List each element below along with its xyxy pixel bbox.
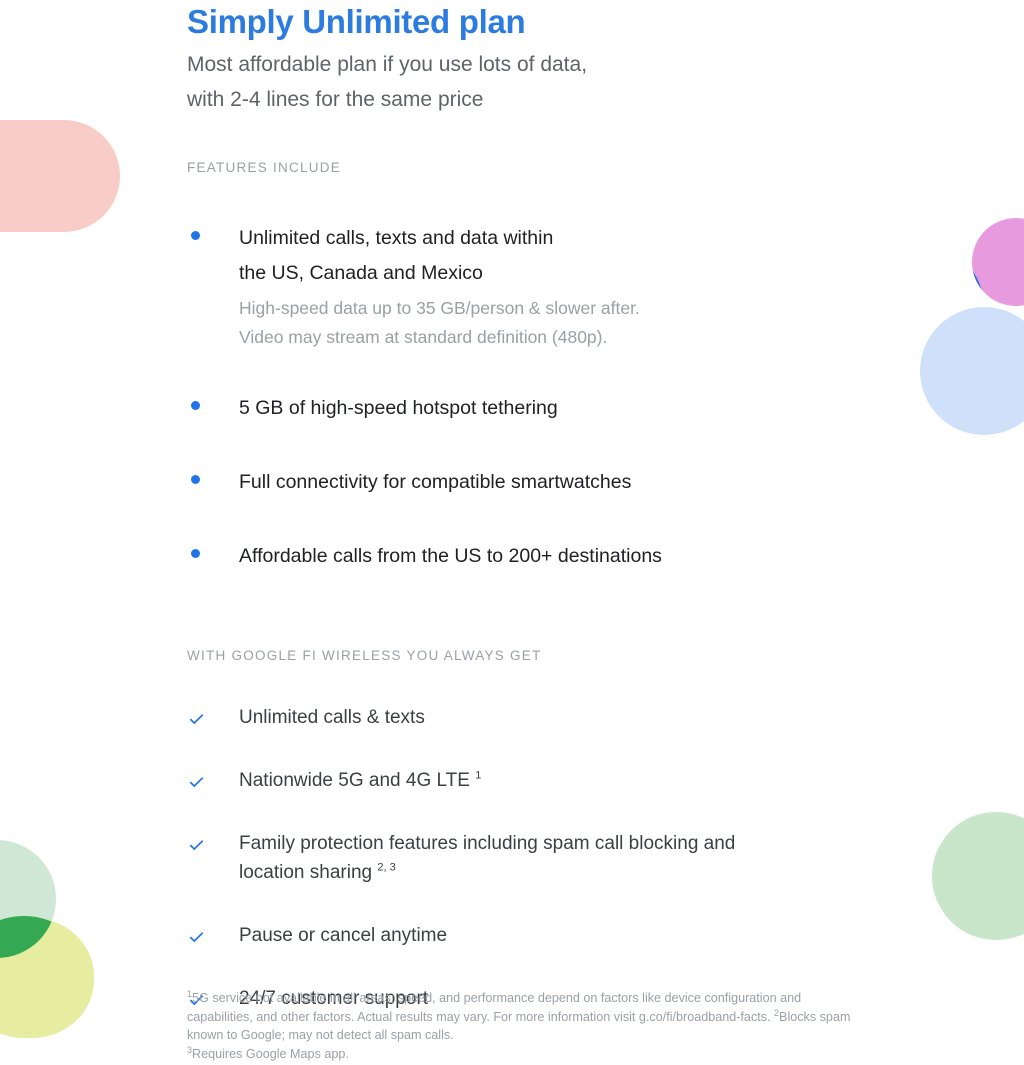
list-item: Affordable calls from the US to 200+ des…	[187, 539, 984, 574]
footnote-text-3: Requires Google Maps app.	[192, 1047, 349, 1061]
feature-heading: 5 GB of high-speed hotspot tethering	[239, 391, 839, 426]
bullet-dot-icon	[191, 401, 200, 410]
plan-subtitle: Most affordable plan if you use lots of …	[187, 47, 747, 117]
list-item: Full connectivity for compatible smartwa…	[187, 465, 984, 500]
list-item: Family protection features including spa…	[187, 829, 984, 887]
check-icon	[187, 835, 206, 854]
feature-subtext-line-2: Video may stream at standard definition …	[239, 327, 607, 347]
plan-details-content: Simply Unlimited plan Most affordable pl…	[0, 0, 1024, 1013]
list-item: Nationwide 5G and 4G LTE 1	[187, 766, 984, 795]
footnote-paragraph: 3Requires Google Maps app.	[187, 1045, 867, 1064]
list-item: Pause or cancel anytime	[187, 921, 984, 950]
always-get-section-label: WITH GOOGLE FI WIRELESS YOU ALWAYS GET	[187, 648, 984, 663]
check-icon	[187, 709, 206, 728]
always-get-text: Unlimited calls & texts	[239, 703, 799, 732]
page-title: Simply Unlimited plan	[187, 0, 984, 42]
feature-heading-line-2: the US, Canada and Mexico	[239, 262, 483, 284]
always-get-text: Nationwide 5G and 4G LTE 1	[239, 766, 799, 795]
always-get-label: Unlimited calls & texts	[239, 707, 425, 728]
check-icon	[187, 772, 206, 791]
feature-subtext-line-1: High-speed data up to 35 GB/person & slo…	[239, 298, 640, 318]
footnote-marker: 2, 3	[377, 862, 395, 874]
always-get-list: Unlimited calls & texts Nationwide 5G an…	[187, 703, 984, 1013]
bullet-dot-icon	[191, 231, 200, 240]
list-item: Unlimited calls, texts and data within t…	[187, 221, 984, 352]
footnote-marker: 1	[475, 770, 481, 782]
features-list: Unlimited calls, texts and data within t…	[187, 221, 984, 574]
footnote-paragraph: 15G service not available in all areas; …	[187, 989, 867, 1045]
footnotes-block: 15G service not available in all areas; …	[187, 989, 867, 1063]
bullet-dot-icon	[191, 549, 200, 558]
feature-heading: Full connectivity for compatible smartwa…	[239, 465, 839, 500]
always-get-text: Family protection features including spa…	[239, 829, 799, 887]
features-section-label: FEATURES INCLUDE	[187, 160, 984, 175]
plan-subtitle-line-2: with 2-4 lines for the same price	[187, 88, 483, 111]
always-get-label: Nationwide 5G and 4G LTE	[239, 770, 470, 791]
feature-heading: Affordable calls from the US to 200+ des…	[239, 539, 839, 574]
list-item: 5 GB of high-speed hotspot tethering	[187, 391, 984, 426]
footnote-text-1: 5G service not available in all areas; s…	[187, 991, 801, 1024]
always-get-label: Family protection features including spa…	[239, 833, 735, 883]
always-get-label: Pause or cancel anytime	[239, 925, 447, 946]
feature-subtext: High-speed data up to 35 GB/person & slo…	[239, 294, 759, 352]
always-get-text: Pause or cancel anytime	[239, 921, 799, 950]
feature-heading: Unlimited calls, texts and data within t…	[239, 221, 669, 291]
feature-heading-line-1: Unlimited calls, texts and data within	[239, 227, 553, 249]
list-item: Unlimited calls & texts	[187, 703, 984, 732]
plan-subtitle-line-1: Most affordable plan if you use lots of …	[187, 53, 587, 76]
bullet-dot-icon	[191, 475, 200, 484]
check-icon	[187, 927, 206, 946]
